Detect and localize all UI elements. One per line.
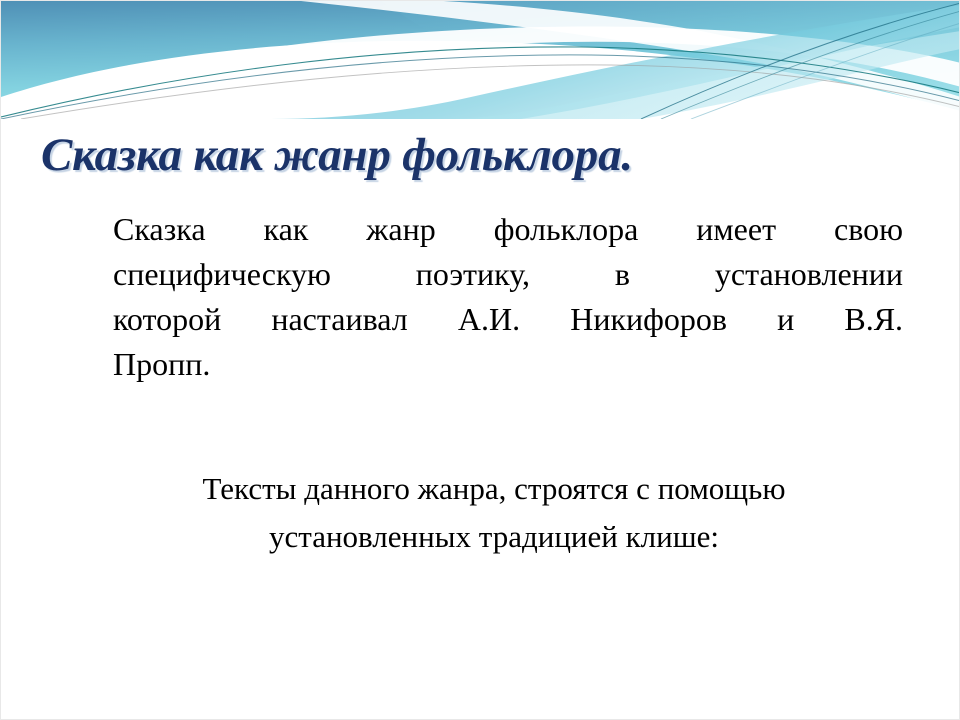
text-word: которой bbox=[99, 297, 221, 342]
text-word: Пропп. bbox=[99, 342, 210, 387]
slide-title: Сказка как жанр фольклора. bbox=[41, 125, 921, 185]
paragraph-centered-line: Тексты данного жанра, строятся с помощью bbox=[85, 465, 903, 513]
text-word: и bbox=[763, 297, 794, 342]
paragraph-justified-line: Пропп. bbox=[85, 342, 903, 387]
text-word: свою bbox=[820, 207, 903, 252]
paragraph-justified-line: которой настаивал А.И. Никифоров и В.Я. bbox=[85, 297, 903, 342]
hairline-teal-1 bbox=[1, 47, 960, 117]
title-block: Сказка как жанр фольклора. bbox=[41, 125, 921, 191]
wave-banner-svg bbox=[1, 1, 960, 119]
hairline-striation-1 bbox=[641, 3, 960, 119]
text-word: фольклора bbox=[480, 207, 639, 252]
text-word: Сказка bbox=[99, 207, 206, 252]
white-sweep-lower bbox=[1, 41, 960, 119]
paragraph-spacer bbox=[85, 387, 903, 465]
text-word: в bbox=[601, 252, 630, 297]
wave-banner-decoration bbox=[1, 1, 960, 119]
text-word: имеет bbox=[682, 207, 776, 252]
hairline-striation-2 bbox=[661, 11, 960, 119]
white-swoosh-mid bbox=[1, 26, 960, 119]
white-diagonal-upper bbox=[301, 1, 960, 113]
text-word: Никифоров bbox=[556, 297, 727, 342]
text-word: В.Я. bbox=[830, 297, 903, 342]
paragraph-centered-line: установленных традицией клише: bbox=[85, 513, 903, 561]
body-text-block: Сказка как жанр фольклора имеет своюспец… bbox=[85, 207, 903, 561]
cyan-ribbon-secondary bbox=[441, 31, 960, 119]
paragraph-justified-line: специфическую поэтику, в установлении bbox=[85, 252, 903, 297]
hairline-teal-2 bbox=[1, 55, 960, 119]
text-word: жанр bbox=[352, 207, 435, 252]
paragraph-centered: Тексты данного жанра, строятся с помощью… bbox=[85, 465, 903, 561]
text-word: поэтику, bbox=[402, 252, 530, 297]
header-gradient-band bbox=[1, 1, 960, 119]
text-word: настаивал bbox=[257, 297, 407, 342]
paragraph-justified: Сказка как жанр фольклора имеет своюспец… bbox=[85, 207, 903, 387]
hairline-striation-3 bbox=[691, 23, 960, 119]
text-word: как bbox=[250, 207, 309, 252]
header-gradient-overlay bbox=[381, 1, 960, 119]
presentation-slide: Сказка как жанр фольклора. Сказка как жа… bbox=[0, 0, 960, 720]
paragraph-justified-line: Сказка как жанр фольклора имеет свою bbox=[85, 207, 903, 252]
text-word: установлении bbox=[701, 252, 903, 297]
text-word: А.И. bbox=[444, 297, 520, 342]
cyan-ribbon-primary bbox=[271, 5, 960, 119]
hairline-grey bbox=[21, 65, 960, 119]
text-word: специфическую bbox=[99, 252, 331, 297]
